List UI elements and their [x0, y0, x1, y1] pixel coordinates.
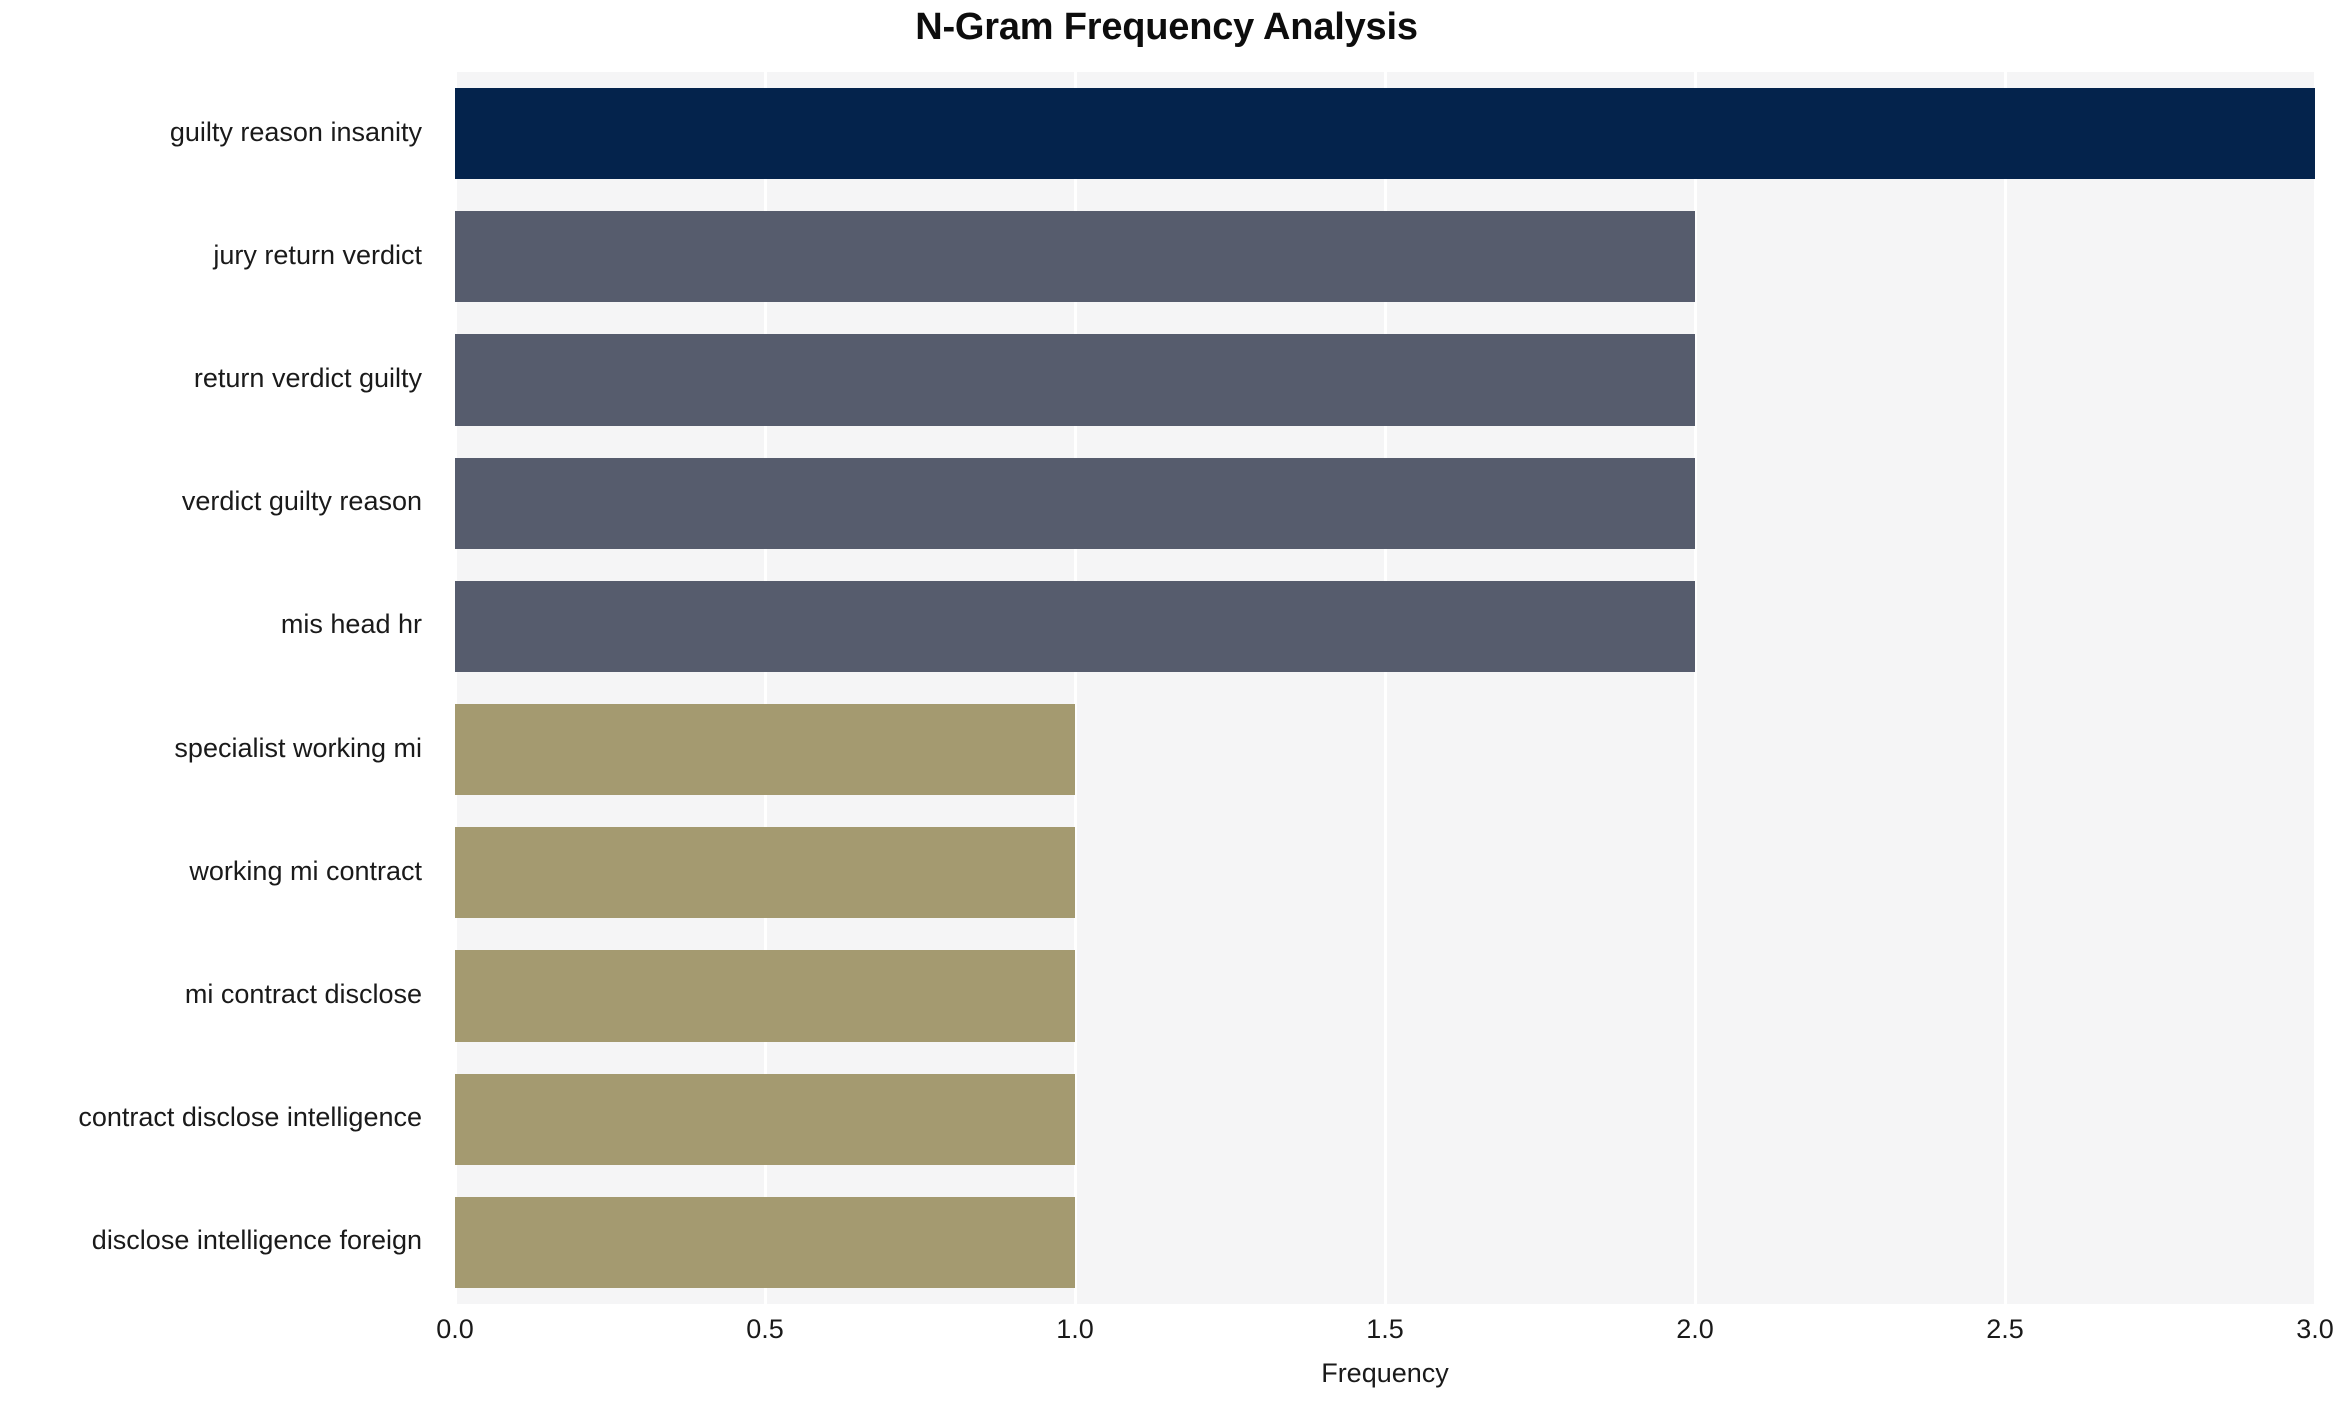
x-axis-tick: 1.5: [1366, 1316, 1404, 1343]
bar[interactable]: [455, 1074, 1075, 1165]
bar-series: [455, 72, 2315, 1304]
y-axis-label: specialist working mi: [174, 735, 422, 762]
bar[interactable]: [455, 950, 1075, 1041]
y-axis-label: jury return verdict: [213, 242, 422, 269]
y-axis-tick-labels: guilty reason insanityjury return verdic…: [0, 72, 440, 1304]
bar[interactable]: [455, 1197, 1075, 1288]
bar[interactable]: [455, 334, 1695, 425]
x-axis-tick: 0.5: [746, 1316, 784, 1343]
chart-figure: N-Gram Frequency Analysis guilty reason …: [0, 0, 2333, 1402]
y-axis-label: guilty reason insanity: [170, 119, 422, 146]
page-title: N-Gram Frequency Analysis: [0, 6, 2333, 49]
y-axis-label: return verdict guilty: [194, 365, 422, 392]
bar[interactable]: [455, 88, 2315, 179]
bar[interactable]: [455, 211, 1695, 302]
x-axis-tick: 2.5: [1986, 1316, 2024, 1343]
y-axis-label: verdict guilty reason: [182, 488, 422, 515]
bar[interactable]: [455, 827, 1075, 918]
x-axis-tick-labels: 0.00.51.01.52.02.53.0: [455, 1316, 2315, 1356]
plot-area: [455, 72, 2315, 1304]
x-axis-tick: 3.0: [2296, 1316, 2333, 1343]
x-axis-title: Frequency: [455, 1360, 2315, 1387]
bar[interactable]: [455, 581, 1695, 672]
y-axis-label: contract disclose intelligence: [78, 1104, 422, 1131]
y-axis-label: mis head hr: [281, 611, 422, 638]
x-axis-tick: 1.0: [1056, 1316, 1094, 1343]
bar[interactable]: [455, 704, 1075, 795]
y-axis-label: working mi contract: [189, 858, 422, 885]
y-axis-label: disclose intelligence foreign: [92, 1227, 422, 1254]
y-axis-label: mi contract disclose: [185, 981, 422, 1008]
bar[interactable]: [455, 458, 1695, 549]
x-axis-tick: 2.0: [1676, 1316, 1714, 1343]
x-axis-tick: 0.0: [436, 1316, 474, 1343]
